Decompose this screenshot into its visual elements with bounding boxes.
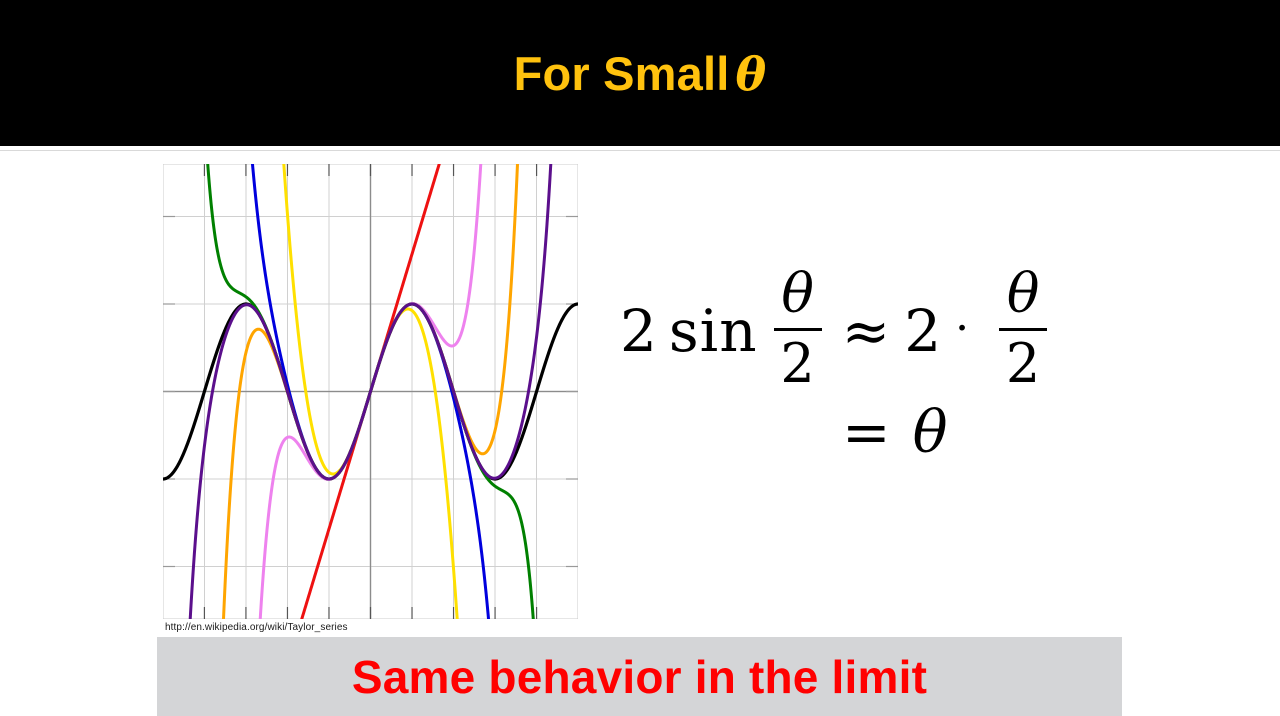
equals-sign: = — [842, 403, 891, 461]
fraction-denominator: 2 — [780, 334, 814, 393]
equation-sin-function: sin — [657, 302, 758, 360]
equation-fraction-left: θ 2 — [774, 266, 822, 392]
taylor-series-figure — [163, 164, 578, 619]
figure-source-caption: http://en.wikipedia.org/wiki/Taylor_seri… — [165, 622, 348, 633]
approx-equals-sign: ≈ — [828, 302, 905, 360]
equation-rhs-coefficient: 2 — [904, 302, 941, 360]
taylor-series-chart — [163, 164, 578, 619]
fraction-numerator: θ — [781, 266, 814, 325]
equation-fraction-right: θ 2 — [999, 266, 1047, 392]
page-title-theta: θ — [730, 47, 767, 101]
title-divider — [0, 150, 1280, 151]
equation-block: 2 sin θ 2 ≈ 2 · θ 2 = θ — [620, 262, 1120, 472]
equation-line-1: 2 sin θ 2 ≈ 2 · θ 2 — [620, 262, 1120, 400]
fraction-denominator: 2 — [1006, 334, 1040, 393]
page-title: For Smallθ — [514, 50, 767, 97]
equation-result-theta: θ — [891, 403, 948, 461]
slide-title-bar: For Smallθ — [0, 0, 1280, 146]
equation-coefficient: 2 — [620, 302, 657, 360]
multiplication-dot: · — [941, 307, 983, 351]
page-title-text: For Small — [514, 47, 730, 100]
summary-banner-text: Same behavior in the limit — [352, 654, 927, 700]
summary-banner: Same behavior in the limit — [157, 637, 1122, 716]
fraction-bar — [774, 328, 822, 331]
equation-line-2: = θ — [620, 392, 1120, 472]
fraction-bar — [999, 328, 1047, 331]
fraction-numerator: θ — [1007, 266, 1040, 325]
